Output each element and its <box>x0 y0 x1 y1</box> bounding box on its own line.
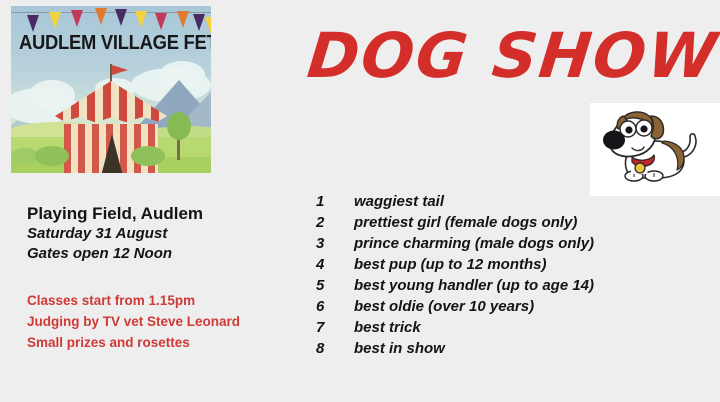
bush-shape <box>131 146 165 166</box>
bunting-flag <box>27 15 39 32</box>
tree-foliage <box>167 112 191 140</box>
class-number: 4 <box>316 254 354 275</box>
bunting-flag <box>71 10 83 27</box>
class-row: 4 best pup (up to 12 months) <box>316 254 676 275</box>
note-line-prizes: Small prizes and rosettes <box>27 332 327 353</box>
class-row: 5 best young handler (up to age 14) <box>316 275 676 296</box>
class-number: 2 <box>316 212 354 233</box>
class-label: best young handler (up to age 14) <box>354 275 594 296</box>
class-label: best oldie (over 10 years) <box>354 296 534 317</box>
dog-illustration <box>594 96 706 192</box>
class-row: 6 best oldie (over 10 years) <box>316 296 676 317</box>
venue-location: Playing Field, Audlem <box>27 203 297 224</box>
class-row: 2 prettiest girl (female dogs only) <box>316 212 676 233</box>
venue-gates-open: Gates open 12 Noon <box>27 244 297 264</box>
poster-slide: AUDLEM VILLAGE FETE DOG SHOW <box>0 0 720 402</box>
class-row: 1 waggiest tail <box>316 191 676 212</box>
class-label: best pup (up to 12 months) <box>354 254 547 275</box>
dog-show-classes-list: 1 waggiest tail 2 prettiest girl (female… <box>316 191 676 359</box>
class-number: 1 <box>316 191 354 212</box>
class-label: best trick <box>354 317 421 338</box>
tent-roof <box>55 81 167 127</box>
event-notes: Classes start from 1.15pm Judging by TV … <box>27 290 327 353</box>
class-number: 3 <box>316 233 354 254</box>
class-label: waggiest tail <box>354 191 444 212</box>
class-label: best in show <box>354 338 445 359</box>
venue-details: Playing Field, Audlem Saturday 31 August… <box>27 203 297 264</box>
class-label: prince charming (male dogs only) <box>354 233 594 254</box>
bunting-flag <box>177 11 189 28</box>
class-number: 5 <box>316 275 354 296</box>
bush-shape <box>35 146 69 166</box>
tent-doorway <box>101 134 123 173</box>
page-title: DOG SHOW <box>305 25 720 87</box>
bunting-flag <box>135 11 147 28</box>
class-number: 6 <box>316 296 354 317</box>
class-row: 3 prince charming (male dogs only) <box>316 233 676 254</box>
class-number: 8 <box>316 338 354 359</box>
bunting-flag <box>155 13 167 30</box>
class-row: 7 best trick <box>316 317 676 338</box>
class-row: 8 best in show <box>316 338 676 359</box>
venue-date: Saturday 31 August <box>27 224 297 244</box>
bunting-flag <box>95 8 107 25</box>
note-line-classes-start: Classes start from 1.15pm <box>27 290 327 311</box>
note-line-judging: Judging by TV vet Steve Leonard <box>27 311 327 332</box>
poster-title: AUDLEM VILLAGE FETE <box>19 32 203 55</box>
village-fete-poster-image: AUDLEM VILLAGE FETE <box>11 6 211 173</box>
bunting-flag <box>115 9 127 26</box>
class-number: 7 <box>316 317 354 338</box>
class-label: prettiest girl (female dogs only) <box>354 212 577 233</box>
bunting-flag <box>49 12 61 29</box>
tent-flag-icon <box>112 65 128 75</box>
bunting-flag <box>193 14 205 31</box>
